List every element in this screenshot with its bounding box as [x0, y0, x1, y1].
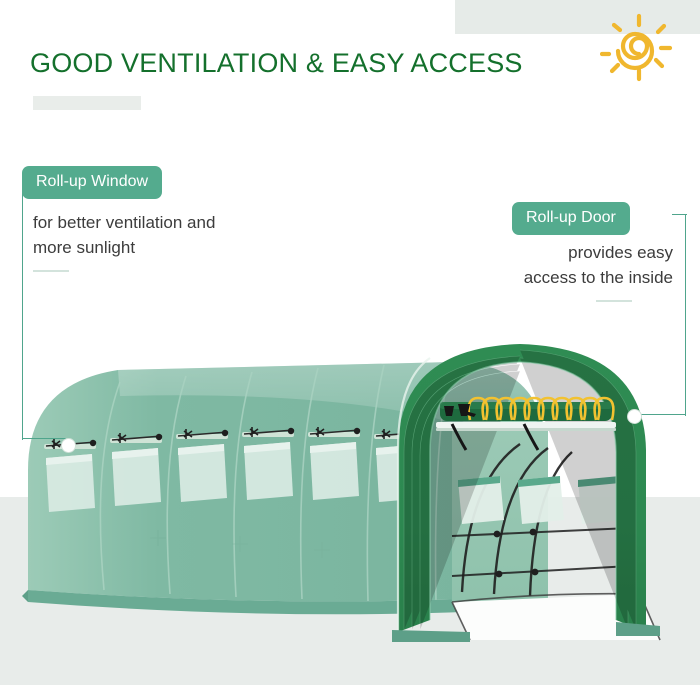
interior-window — [518, 476, 564, 524]
callout-separator-window — [33, 270, 69, 272]
leader-line-door-vertical — [685, 214, 686, 416]
greenhouse-illustration — [0, 340, 700, 660]
callout-description-roll-up-door: provides easy access to the inside — [445, 240, 673, 290]
callout-badge-roll-up-window[interactable]: Roll-up Window — [22, 166, 162, 199]
greenhouse-front-end — [392, 344, 660, 642]
leader-line-window-horizontal — [22, 438, 66, 439]
callout-anchor-dot-window — [61, 438, 76, 453]
leader-line-window-vertical — [22, 178, 23, 440]
callout-separator-door — [596, 300, 632, 302]
title-underline-block — [33, 96, 141, 110]
callout-anchor-dot-door — [627, 409, 642, 424]
infographic-canvas: GOOD VENTILATION & EASY ACCESS — [0, 0, 700, 700]
callout-badge-roll-up-door[interactable]: Roll-up Door — [512, 202, 630, 235]
callout-description-roll-up-window: for better ventilation and more sunlight — [33, 210, 293, 260]
sun-spiral-icon — [600, 8, 678, 86]
page-title: GOOD VENTILATION & EASY ACCESS — [30, 48, 523, 79]
